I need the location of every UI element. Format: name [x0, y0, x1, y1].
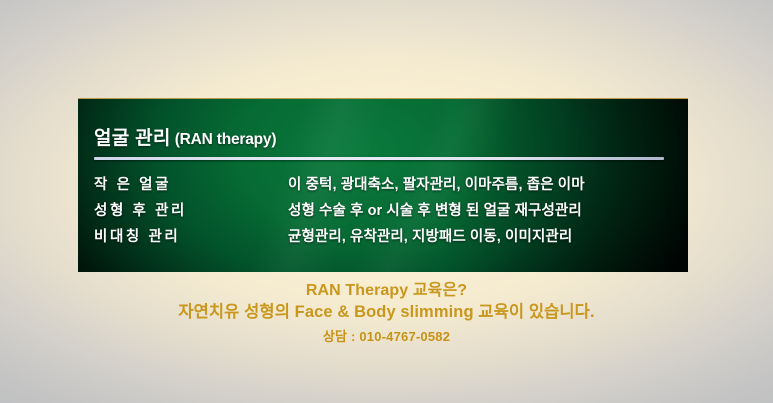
- panel-title-sub: (RAN therapy): [175, 131, 277, 148]
- panel-title-main: 얼굴 관리: [94, 128, 171, 149]
- table-row: 작 은 얼굴 이 중턱, 광대축소, 팔자관리, 이마주름, 좁은 이마: [94, 173, 674, 199]
- row-value: 균형관리, 유착관리, 지방패드 이동, 이미지관리: [288, 225, 572, 246]
- table-row: 비대칭 관리 균형관리, 유착관리, 지방패드 이동, 이미지관리: [94, 225, 674, 251]
- caption-block: RAN Therapy 교육은? 자연치유 성형의 Face & Body sl…: [0, 280, 773, 348]
- row-value: 성형 수술 후 or 시술 후 변형 된 얼굴 재구성관리: [288, 199, 582, 220]
- caption-headline: RAN Therapy 교육은?: [0, 280, 773, 301]
- poster-root: 얼굴 관리(RAN therapy) 작 은 얼굴 이 중턱, 광대축소, 팔자…: [0, 0, 773, 403]
- caption-subheadline: 자연치유 성형의 Face & Body slimming 교육이 있습니다.: [0, 301, 773, 324]
- service-list: 작 은 얼굴 이 중턱, 광대축소, 팔자관리, 이마주름, 좁은 이마 성형 …: [94, 173, 674, 251]
- contact-phone: 상담 : 010-4767-0582: [0, 326, 773, 348]
- table-row: 성형 후 관리 성형 수술 후 or 시술 후 변형 된 얼굴 재구성관리: [94, 199, 674, 225]
- face-care-panel: 얼굴 관리(RAN therapy) 작 은 얼굴 이 중턱, 광대축소, 팔자…: [78, 98, 688, 272]
- panel-title: 얼굴 관리(RAN therapy): [94, 123, 276, 150]
- title-divider: [94, 157, 664, 160]
- row-label: 작 은 얼굴: [94, 173, 288, 194]
- row-label: 비대칭 관리: [94, 225, 288, 246]
- row-label: 성형 후 관리: [94, 199, 288, 220]
- row-value: 이 중턱, 광대축소, 팔자관리, 이마주름, 좁은 이마: [288, 173, 585, 194]
